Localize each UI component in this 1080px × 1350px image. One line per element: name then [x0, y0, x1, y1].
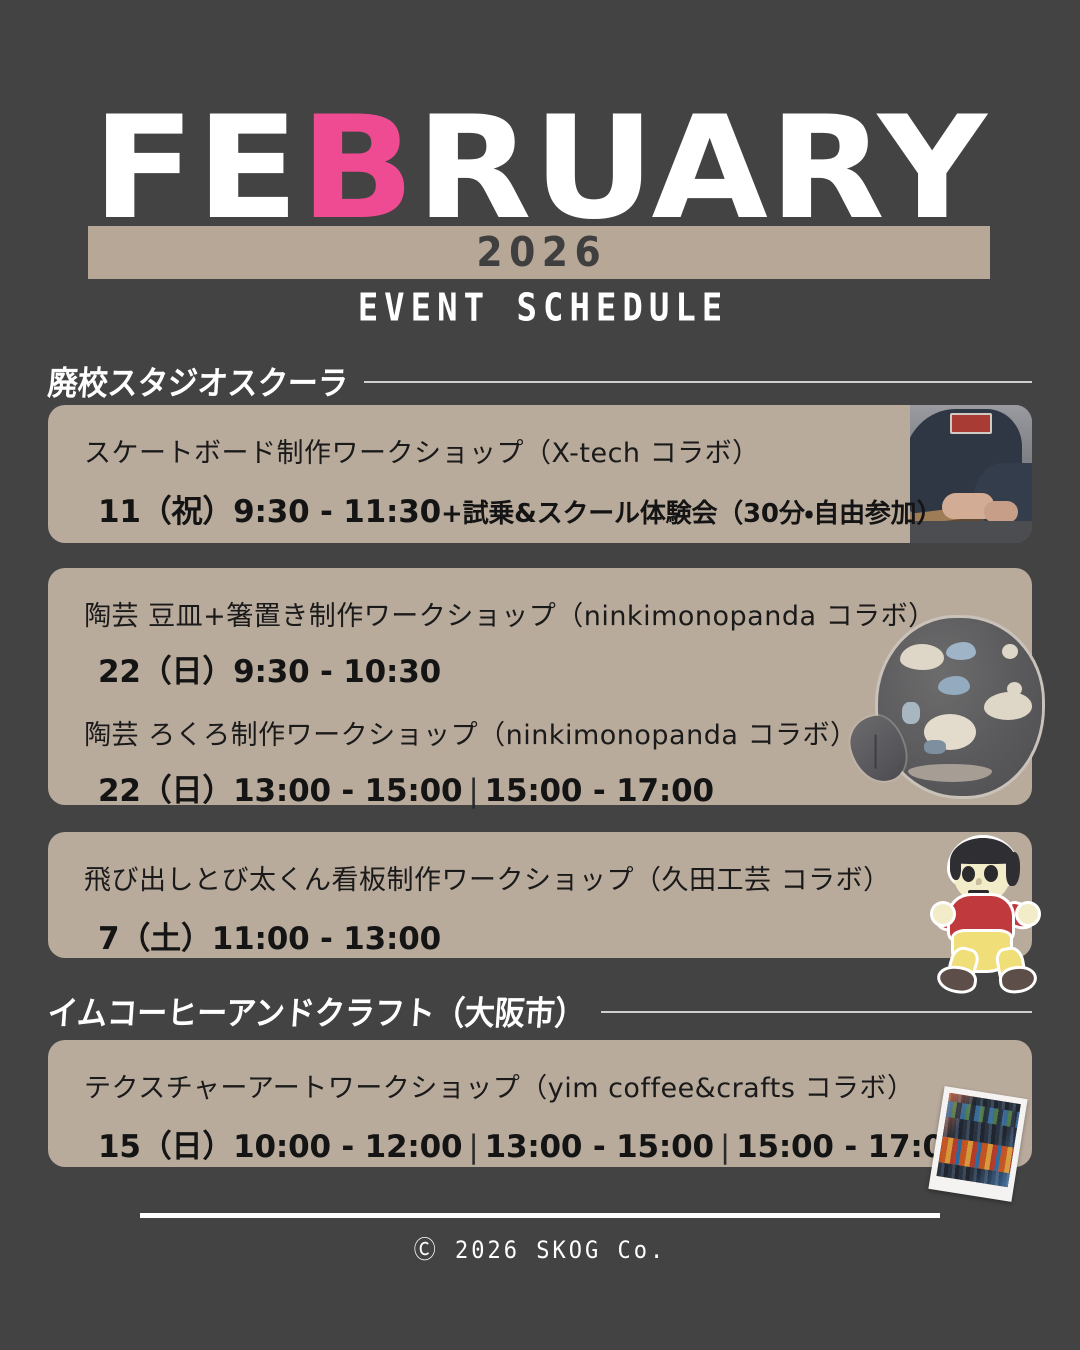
year-banner: 2026: [88, 226, 990, 279]
copyright-text: Ⓒ 2026 SKOG Co.: [0, 1230, 1080, 1265]
section-header-venue-1: 廃校スタジオスクーラ: [48, 358, 1032, 402]
card-content: 飛び出しとび太くん看板制作ワークショップ（久田工芸 コラボ） 7（土）11:00…: [48, 832, 1032, 958]
event-time: 22（日）9:30 - 10:30: [48, 633, 1032, 691]
section-label: イムコーヒーアンドクラフト（大阪市）: [46, 986, 586, 1034]
card-content: スケートボード制作ワークショップ（X-tech コラボ） 11（祝）9:30 -…: [48, 405, 1032, 531]
section-header-venue-2: イムコーヒーアンドクラフト（大阪市）: [48, 988, 1032, 1032]
event-time: 22（日）13:00 - 15:00|15:00 - 17:00: [48, 752, 1032, 810]
event-time-main: 11（祝）9:30 - 11:30: [98, 494, 441, 530]
time-separator: |: [462, 773, 484, 809]
event-card[interactable]: 飛び出しとび太くん看板制作ワークショップ（久田工芸 コラボ） 7（土）11:00…: [48, 832, 1032, 958]
poster-header: FEBRUARY: [0, 0, 1080, 240]
month-title: FEBRUARY: [0, 0, 1080, 240]
event-time: 15（日）10:00 - 12:00|13:00 - 15:00|15:00 -…: [48, 1105, 1032, 1166]
event-title: テクスチャーアートワークショップ（yim coffee&crafts コラボ）: [48, 1040, 1032, 1105]
event-title: 陶芸 豆皿+箸置き制作ワークショップ（ninkimonopanda コラボ）: [48, 568, 1032, 633]
event-time: 11（祝）9:30 - 11:30+試乗&スクール体験会（30分・自由参加）: [48, 470, 1032, 531]
time-separator: |: [714, 1129, 736, 1165]
card-content: 陶芸 豆皿+箸置き制作ワークショップ（ninkimonopanda コラボ） 2…: [48, 568, 1032, 810]
section-label: 廃校スタジオスクーラ: [46, 356, 349, 404]
year-text: 2026: [470, 232, 607, 273]
event-time-date: 15（日）: [98, 1129, 233, 1165]
section-rule: [601, 1011, 1032, 1013]
card-content: テクスチャーアートワークショップ（yim coffee&crafts コラボ） …: [48, 1040, 1032, 1166]
event-time-slot: 10:00 - 12:00: [233, 1129, 462, 1165]
time-separator: |: [462, 1129, 484, 1165]
event-time-slot: 15:00 - 17:00: [485, 773, 714, 809]
event-title: 陶芸 ろくろ制作ワークショップ（ninkimonopanda コラボ）: [48, 691, 1032, 752]
event-time-slot: 15:00 - 17:00: [736, 1129, 965, 1165]
event-title: スケートボード制作ワークショップ（X-tech コラボ）: [48, 405, 1032, 470]
poster-subtitle: EVENT SCHEDULE: [0, 286, 1080, 331]
event-card[interactable]: スケートボード制作ワークショップ（X-tech コラボ） 11（祝）9:30 -…: [48, 405, 1032, 543]
event-schedule-poster: FEBRUARY 2026 EVENT SCHEDULE 廃校スタジオスクーラ …: [0, 0, 1080, 1350]
event-time-date: 22（日）: [98, 773, 233, 809]
event-time-slot: 13:00 - 15:00: [485, 1129, 714, 1165]
event-card[interactable]: 陶芸 豆皿+箸置き制作ワークショップ（ninkimonopanda コラボ） 2…: [48, 568, 1032, 805]
event-time-suffix: +試乗&スクール体験会（30分・自由参加）: [441, 499, 942, 529]
event-time: 7（土）11:00 - 13:00: [48, 897, 1032, 958]
event-title: 飛び出しとび太くん看板制作ワークショップ（久田工芸 コラボ）: [48, 832, 1032, 897]
section-rule: [364, 381, 1032, 383]
event-time-slot: 13:00 - 15:00: [233, 773, 462, 809]
footer-divider: [140, 1213, 940, 1218]
event-card[interactable]: テクスチャーアートワークショップ（yim coffee&crafts コラボ） …: [48, 1040, 1032, 1167]
